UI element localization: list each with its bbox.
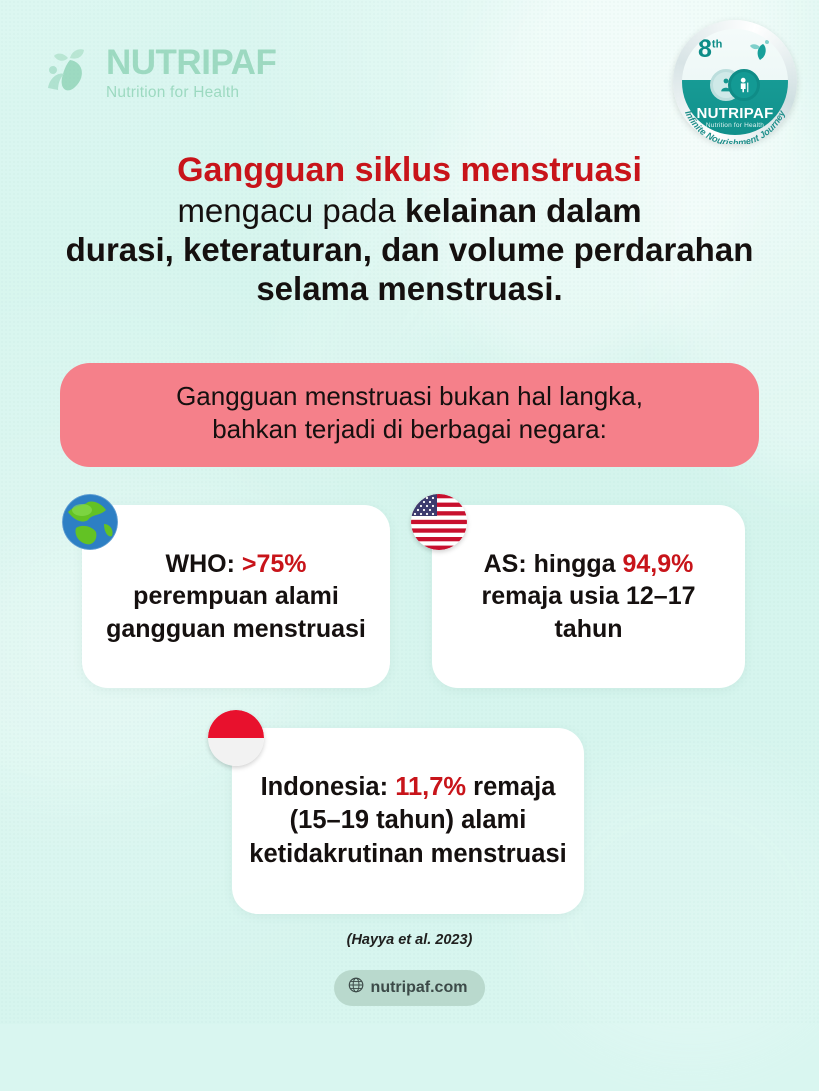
globe-icon	[348, 977, 364, 998]
globe-earth-icon	[62, 494, 118, 550]
logo-tagline: Nutrition for Health	[106, 85, 276, 101]
flag-indonesia-icon	[208, 710, 264, 766]
id-highlight: 11,7%	[395, 773, 466, 801]
who-suffix: perempuan alami gangguan menstruasi	[106, 582, 366, 643]
anniversary-badge: 8th	[673, 20, 797, 144]
logo-name: NUTRIPAF	[106, 45, 276, 80]
website-pill[interactable]: nutripaf.com	[334, 970, 486, 1006]
stat-card-who-text: WHO: >75% perempuan alami gangguan menst…	[82, 548, 390, 646]
stat-card-as: AS: hingga 94,9% remaja usia 12–17 tahun	[432, 505, 745, 688]
title-line-3: durasi, keteraturan, dan volume	[66, 231, 565, 268]
page-title: Gangguan siklus menstruasi mengacu pada …	[50, 150, 769, 309]
stat-card-who: WHO: >75% perempuan alami gangguan menst…	[82, 505, 390, 688]
who-prefix: WHO:	[165, 550, 241, 578]
badge-arc-label: Infinite Nourishment Journey	[683, 108, 787, 144]
website-label: nutripaf.com	[371, 979, 468, 997]
banner-line-1: Gangguan menstruasi bukan hal langka,	[84, 380, 735, 413]
stat-card-indonesia: Indonesia: 11,7% remaja (15–19 tahun) al…	[232, 728, 584, 914]
title-line-1: Gangguan siklus menstruasi	[50, 150, 769, 190]
highlight-banner: Gangguan menstruasi bukan hal langka, ba…	[60, 363, 759, 467]
infographic-page: NUTRIPAF Nutrition for Health 8th	[0, 0, 819, 1024]
title-line-2: mengacu pada kelainan dalam	[50, 192, 769, 231]
banner-line-2: bahkan terjadi di berbagai negara:	[84, 413, 735, 446]
title-line-2-bold: kelainan dalam	[405, 192, 642, 229]
stat-card-as-text: AS: hingga 94,9% remaja usia 12–17 tahun	[432, 548, 745, 646]
leaf-person-logo-icon	[40, 44, 98, 102]
id-prefix: Indonesia:	[261, 773, 396, 801]
nutripaf-logo: NUTRIPAF Nutrition for Health	[40, 44, 276, 102]
as-suffix: remaja usia 12–17 tahun	[481, 582, 695, 643]
title-line-2-normal: mengacu pada	[177, 192, 405, 229]
badge-arc-text: Infinite Nourishment Journey	[673, 20, 797, 144]
as-prefix: AS: hingga	[484, 550, 623, 578]
stat-card-indonesia-text: Indonesia: 11,7% remaja (15–19 tahun) al…	[232, 771, 584, 870]
as-highlight: 94,9%	[623, 550, 694, 578]
source-citation: (Hayya et al. 2023)	[0, 932, 819, 948]
flag-united-states-icon	[411, 494, 467, 550]
who-highlight: >75%	[242, 550, 307, 578]
